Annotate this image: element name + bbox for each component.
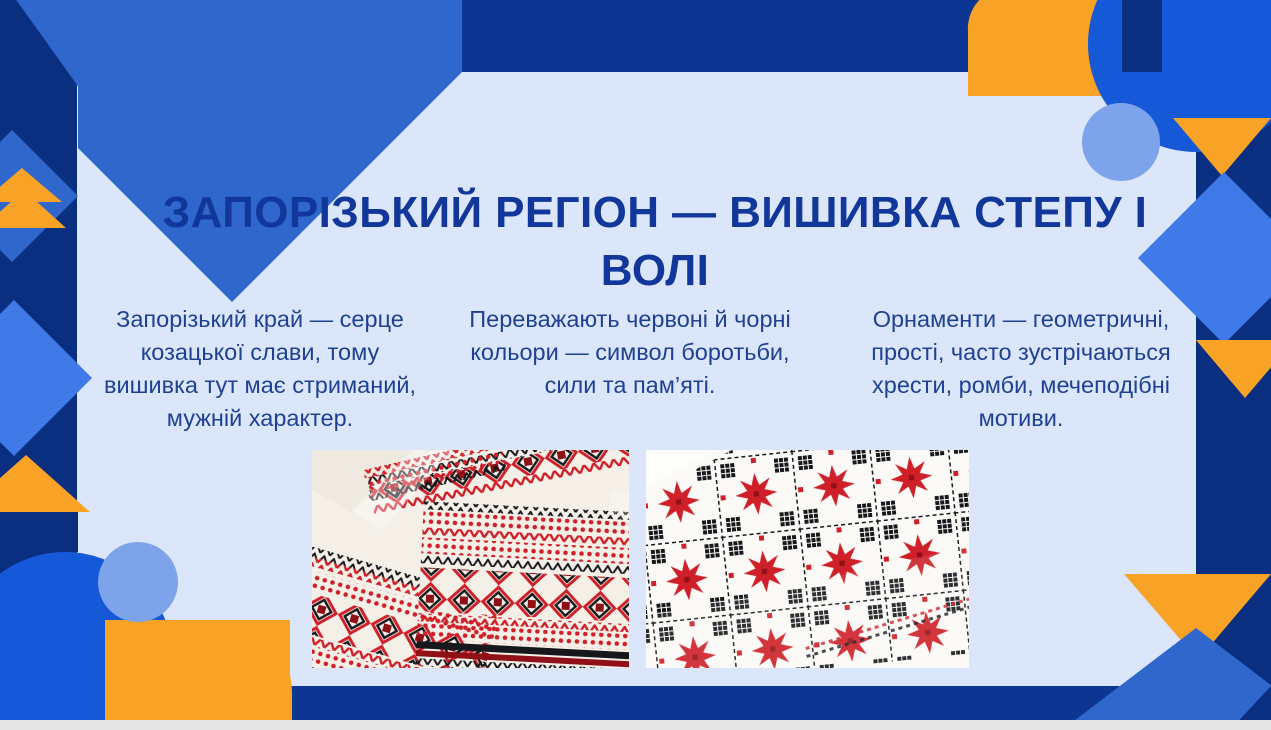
bottom-grey-strip	[0, 720, 1271, 730]
presentation-slide: ЗАПОРІЗЬКИЙ РЕГІОН — ВИШИВКА СТЕПУ І ВОЛ…	[0, 0, 1271, 730]
body-text-column-3: Орнаменти — геометричні, прості, часто з…	[852, 303, 1190, 435]
slide-title: ЗАПОРІЗЬКИЙ РЕГІОН — ВИШИВКА СТЕПУ І ВОЛ…	[150, 184, 1160, 298]
bottom-left-light-circle-shape	[98, 542, 178, 622]
embroidered-star-motif-photo	[646, 450, 969, 668]
top-right-navy-block-shape	[1122, 0, 1162, 72]
left-navy-block-shape	[0, 512, 78, 552]
body-text-column-1: Запорізький край — серце козацької слави…	[92, 303, 428, 435]
body-text-column-2: Переважають червоні й чорні кольори — си…	[462, 303, 798, 402]
title-light-circle-shape	[1082, 103, 1160, 181]
embroidered-towel-bands-photo	[312, 450, 629, 668]
